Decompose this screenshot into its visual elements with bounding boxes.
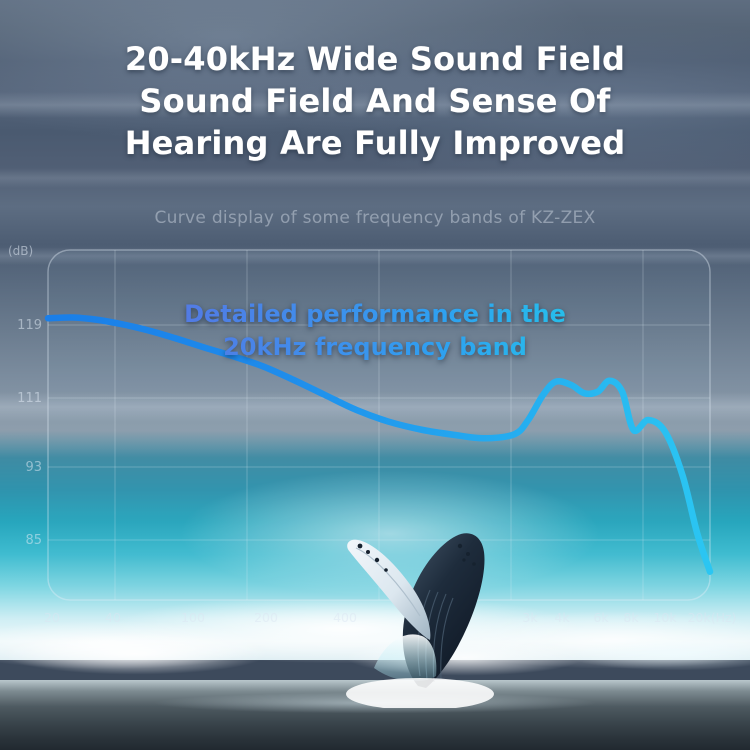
headline: 20-40kHz Wide Sound Field Sound Field An…	[0, 38, 750, 164]
headline-line-2: Sound Field And Sense Of	[0, 80, 750, 122]
product-infographic: 20-40kHz Wide Sound Field Sound Field An…	[0, 0, 750, 750]
humpback-whale-image	[300, 508, 520, 708]
overlay-line-1: Detailed performance in the	[0, 298, 750, 331]
whale-splash	[374, 634, 436, 681]
headline-line-3: Hearing Are Fully Improved	[0, 122, 750, 164]
overlay-line-2: 20kHz frequency band	[0, 331, 750, 364]
whale-impact-foam	[346, 678, 494, 708]
headline-line-1: 20-40kHz Wide Sound Field	[0, 38, 750, 80]
chart-overlay-callout: Detailed performance in the 20kHz freque…	[0, 298, 750, 364]
